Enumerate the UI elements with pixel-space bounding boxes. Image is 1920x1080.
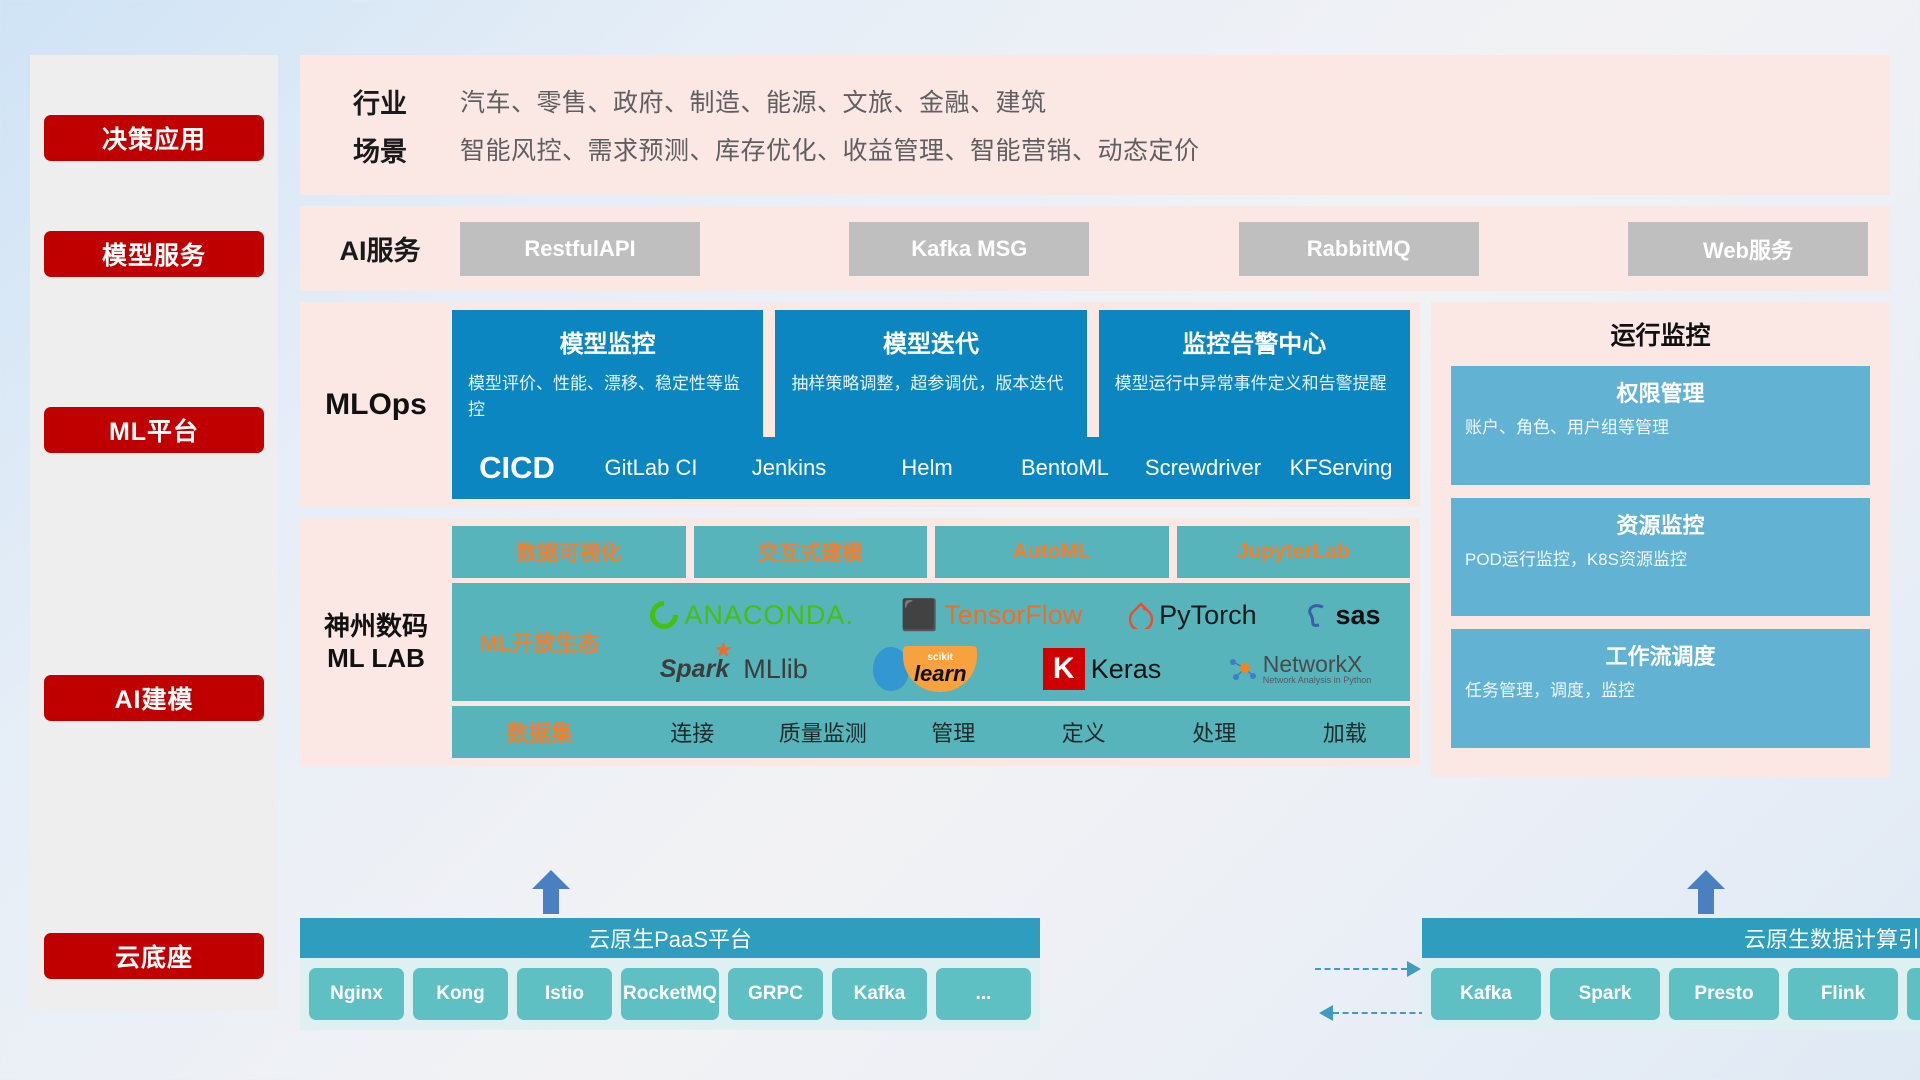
paas-chip-kong[interactable]: Kong [413,968,508,1020]
logo-spark-mllib: ★ Spark MLlib [660,654,808,685]
dataset-item-process[interactable]: 处理 [1149,716,1280,748]
rail-item-cloud-base[interactable]: 云底座 [44,933,264,979]
paas-chip-rocketmq[interactable]: RocketMQ [621,968,719,1020]
lab-tab-automl[interactable]: AutoML [935,526,1169,578]
ml-ecosystem-row: ML开放生态 ANACONDA. ⬛ TensorFlow [452,583,1410,701]
ai-chip-restfulapi[interactable]: RestfulAPI [460,222,700,276]
sas-icon [1303,601,1329,629]
lab-tab-data-visualization[interactable]: 数据可视化 [452,526,686,578]
rail-label: 云底座 [115,938,193,974]
connector-line-right [1315,968,1407,970]
card-desc: 抽样策略调整，超参调优，版本迭代 [791,371,1070,397]
cicd-item-gitlab-ci[interactable]: GitLab CI [582,455,720,480]
card-title: 模型监控 [468,324,747,359]
rail-item-ai-modeling[interactable]: AI建模 [44,675,264,721]
industry-scenario-band: 行业 汽车、零售、政府、制造、能源、文旅、金融、建筑 场景 智能风控、需求预测、… [300,55,1890,195]
ai-chip-rabbitmq[interactable]: RabbitMQ [1239,222,1479,276]
monitor-card-resource[interactable]: 资源监控 POD运行监控，K8S资源监控 [1451,498,1870,617]
data-compute-engine-box: 云原生数据计算引擎 Kafka Spark Presto Flink Hadoo… [1422,918,1920,1030]
data-compute-engine-title: 云原生数据计算引擎 [1422,918,1920,958]
logo-label: ANACONDA. [684,600,854,631]
compute-chip-list: Kafka Spark Presto Flink Hadoop Storm ..… [1422,958,1920,1020]
ml-lab-tab-list: 数据可视化 交互式建模 AutoML JupyterLab [452,526,1410,578]
logo-keras: K Keras [1043,648,1162,690]
rail-label: 模型服务 [102,236,206,272]
cicd-label: CICD [452,450,582,486]
card-title: 模型迭代 [791,324,1070,359]
ai-service-chip-list: RestfulAPI Kafka MSG RabbitMQ Web服务 [460,222,1890,276]
paas-platform-title: 云原生PaaS平台 [300,918,1040,958]
connector-line-left [1333,1012,1425,1014]
compute-chip-hadoop[interactable]: Hadoop [1907,968,1920,1020]
ml-lab-label-line2: ML LAB [327,642,425,675]
card-title: 权限管理 [1465,376,1856,408]
paas-chip-istio[interactable]: Istio [517,968,612,1020]
ml-lab-label: 神州数码 ML LAB [300,526,452,758]
paas-platform-box: 云原生PaaS平台 Nginx Kong Istio RocketMQ GRPC… [300,918,1040,1030]
card-title: 监控告警中心 [1115,324,1394,359]
card-title: 资源监控 [1465,508,1856,540]
ml-lab-content: 数据可视化 交互式建模 AutoML JupyterLab ML开放生态 [452,526,1420,758]
card-desc: 模型运行中异常事件定义和告警提醒 [1115,371,1394,397]
logo-grid: ANACONDA. ⬛ TensorFlow [627,589,1410,695]
up-arrow-right-icon [1687,870,1725,914]
monitor-card-workflow[interactable]: 工作流调度 任务管理，调度，监控 [1451,629,1870,748]
keras-icon: K [1043,648,1085,690]
cicd-row: CICD GitLab CI Jenkins Helm BentoML Scre… [452,437,1410,499]
compute-chip-flink[interactable]: Flink [1788,968,1898,1020]
logo-row-1: ANACONDA. ⬛ TensorFlow [627,589,1404,641]
rail-item-model-service[interactable]: 模型服务 [44,231,264,277]
lab-tab-jupyterlab[interactable]: JupyterLab [1177,526,1411,578]
bidirectional-connector [1315,958,1425,1028]
industry-value: 汽车、零售、政府、制造、能源、文旅、金融、建筑 [460,83,1047,119]
runtime-monitor-title: 运行监控 [1451,316,1870,352]
card-title: 工作流调度 [1465,639,1856,671]
dataset-item-load[interactable]: 加载 [1280,716,1411,748]
mlops-band: MLOps 模型监控 模型评价、性能、漂移、稳定性等监控 模型迭代 抽样策略调整… [300,302,1420,507]
logo-sublabel: Network Analysis in Python [1263,676,1372,685]
rail-label: 决策应用 [102,120,206,156]
logo-scikit-learn: scikit learn [873,646,977,692]
logo-networkx: NetworkX Network Analysis in Python [1227,653,1372,685]
bottom-infrastructure: 云原生PaaS平台 Nginx Kong Istio RocketMQ GRPC… [300,880,1900,1055]
tensorflow-icon: ⬛ [901,598,938,633]
rail-item-ml-platform[interactable]: ML平台 [44,407,264,453]
compute-chip-kafka[interactable]: Kafka [1431,968,1541,1020]
card-desc: 任务管理，调度，监控 [1465,679,1856,704]
cicd-item-screwdriver[interactable]: Screwdriver [1134,455,1272,480]
mid-section: MLOps 模型监控 模型评价、性能、漂移、稳定性等监控 模型迭代 抽样策略调整… [300,302,1890,777]
left-layer-rail: 决策应用 模型服务 ML平台 AI建模 云底座 [30,55,278,1010]
mlops-and-lab-column: MLOps 模型监控 模型评价、性能、漂移、稳定性等监控 模型迭代 抽样策略调整… [300,302,1420,777]
ai-chip-kafka-msg[interactable]: Kafka MSG [849,222,1089,276]
connector-arrow-right-icon [1407,961,1421,977]
ml-lab-label-line1: 神州数码 [324,610,428,643]
apache-spark-icon: ★ Spark [660,655,729,684]
logo-sas: sas [1303,600,1380,631]
logo-label: PyTorch [1159,600,1257,631]
architecture-diagram: 决策应用 模型服务 ML平台 AI建模 云底座 行业 汽车、零售、政府、制造、能… [0,0,1920,1080]
scenario-value: 智能风控、需求预测、库存优化、收益管理、智能营销、动态定价 [460,131,1200,167]
cicd-item-helm[interactable]: Helm [858,455,996,480]
paas-chip-grpc[interactable]: GRPC [728,968,823,1020]
logo-row-2: ★ Spark MLlib scikit [627,643,1404,695]
rail-label: AI建模 [114,680,193,716]
up-arrow-left-icon [532,870,570,914]
logo-label: NetworkX [1263,653,1372,676]
rail-item-decision-app[interactable]: 决策应用 [44,115,264,161]
ml-lab-band: 神州数码 ML LAB 数据可视化 交互式建模 AutoML JupyterLa… [300,518,1420,766]
ai-service-band: AI服务 RestfulAPI Kafka MSG RabbitMQ Web服务 [300,206,1890,291]
ai-service-label: AI服务 [300,229,460,268]
card-desc: 模型评价、性能、漂移、稳定性等监控 [468,371,747,422]
ai-chip-web-service[interactable]: Web服务 [1628,222,1868,276]
paas-chip-more[interactable]: ... [936,968,1031,1020]
dataset-item-quality-monitor[interactable]: 质量监测 [758,716,889,748]
ml-ecosystem-label: ML开放生态 [452,626,627,658]
logo-label: TensorFlow [944,600,1082,631]
pytorch-icon [1129,601,1153,629]
lab-tab-interactive-modeling[interactable]: 交互式建模 [694,526,928,578]
industry-label: 行业 [300,82,460,121]
chip-label: Web服务 [1703,233,1793,265]
logo-label: learn [914,663,967,685]
logo-label: MLlib [743,654,808,685]
paas-chip-kafka[interactable]: Kafka [832,968,927,1020]
chip-label: RestfulAPI [524,236,635,262]
logo-label: sas [1335,600,1380,631]
chip-label: RabbitMQ [1307,236,1411,262]
dataset-label: 数据集 [452,716,627,748]
paas-chip-nginx[interactable]: Nginx [309,968,404,1020]
cicd-item-kfserving[interactable]: KFServing [1272,455,1410,480]
dataset-item-manage[interactable]: 管理 [888,716,1019,748]
paas-chip-list: Nginx Kong Istio RocketMQ GRPC Kafka ... [300,958,1040,1020]
dataset-item-connect[interactable]: 连接 [627,716,758,748]
runtime-monitor-panel: 运行监控 权限管理 账户、角色、用户组等管理 资源监控 POD运行监控，K8S资… [1431,302,1890,777]
main-stack: 行业 汽车、零售、政府、制造、能源、文旅、金融、建筑 场景 智能风控、需求预测、… [300,55,1890,777]
logo-pytorch: PyTorch [1129,600,1257,631]
scenario-label: 场景 [300,130,460,169]
compute-chip-presto[interactable]: Presto [1669,968,1779,1020]
monitor-card-permission[interactable]: 权限管理 账户、角色、用户组等管理 [1451,366,1870,485]
dataset-item-define[interactable]: 定义 [1019,716,1150,748]
rail-label: ML平台 [109,412,199,448]
anaconda-icon [645,595,685,635]
cicd-item-jenkins[interactable]: Jenkins [720,455,858,480]
mlops-label: MLOps [300,310,452,499]
logo-anaconda: ANACONDA. [650,600,854,631]
scenario-row: 场景 智能风控、需求预测、库存优化、收益管理、智能营销、动态定价 [300,125,1890,173]
dataset-row: 数据集 连接 质量监测 管理 定义 处理 加载 [452,706,1410,758]
cicd-item-bentoml[interactable]: BentoML [996,455,1134,480]
networkx-icon [1227,654,1257,684]
card-desc: 账户、角色、用户组等管理 [1465,416,1856,441]
compute-chip-spark[interactable]: Spark [1550,968,1660,1020]
card-desc: POD运行监控，K8S资源监控 [1465,548,1856,573]
industry-row: 行业 汽车、零售、政府、制造、能源、文旅、金融、建筑 [300,77,1890,125]
connector-arrow-left-icon [1319,1005,1333,1021]
logo-tensorflow: ⬛ TensorFlow [901,598,1082,633]
chip-label: Kafka MSG [911,236,1027,262]
logo-label: Keras [1091,654,1162,685]
